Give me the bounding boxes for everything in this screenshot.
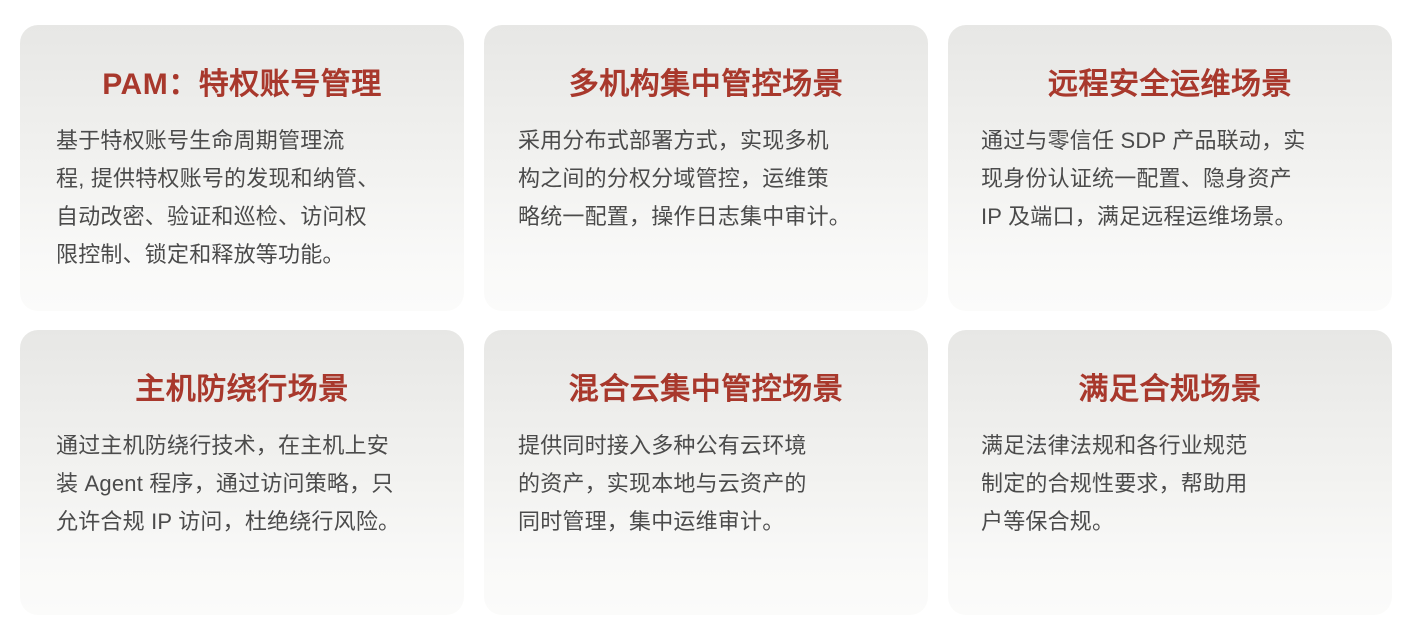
card-body: 基于特权账号生命周期管理流程, 提供特权账号的发现和纳管、自动改密、验证和巡检、… — [44, 122, 440, 274]
card-body-line: 装 Agent 程序，通过访问策略，只 — [56, 465, 440, 503]
card-body-line: 现身份认证统一配置、隐身资产 — [981, 160, 1365, 198]
card-body-line: 构之间的分权分域管控，运维策 — [518, 160, 902, 198]
card-title: 满足合规场景 — [1079, 370, 1262, 409]
scenario-card-grid: PAM：特权账号管理 基于特权账号生命周期管理流程, 提供特权账号的发现和纳管、… — [0, 0, 1412, 638]
card-body: 通过与零信任 SDP 产品联动，实现身份认证统一配置、隐身资产IP 及端口，满足… — [975, 122, 1365, 236]
card-body-line: 程, 提供特权账号的发现和纳管、 — [56, 160, 440, 198]
scenario-card[interactable]: 满足合规场景 满足法律法规和各行业规范制定的合规性要求，帮助用户等保合规。 — [948, 330, 1392, 616]
card-body-line: 户等保合规。 — [981, 503, 1365, 541]
card-body-line: IP 及端口，满足远程运维场景。 — [981, 198, 1365, 236]
card-body-line: 通过与零信任 SDP 产品联动，实 — [981, 122, 1365, 160]
card-body-line: 允许合规 IP 访问，杜绝绕行风险。 — [56, 503, 440, 541]
card-body: 满足法律法规和各行业规范制定的合规性要求，帮助用户等保合规。 — [975, 427, 1365, 541]
card-body-line: 制定的合规性要求，帮助用 — [981, 465, 1365, 503]
card-body: 提供同时接入多种公有云环境的资产，实现本地与云资产的同时管理，集中运维审计。 — [510, 427, 902, 541]
scenario-card[interactable]: 混合云集中管控场景 提供同时接入多种公有云环境的资产，实现本地与云资产的同时管理… — [484, 330, 928, 616]
card-body-line: 的资产，实现本地与云资产的 — [518, 465, 902, 503]
card-body: 采用分布式部署方式，实现多机构之间的分权分域管控，运维策略统一配置，操作日志集中… — [510, 122, 902, 236]
scenario-card[interactable]: 远程安全运维场景 通过与零信任 SDP 产品联动，实现身份认证统一配置、隐身资产… — [948, 25, 1392, 311]
card-title: PAM：特权账号管理 — [102, 65, 381, 104]
card-body-line: 基于特权账号生命周期管理流 — [56, 122, 440, 160]
card-title: 混合云集中管控场景 — [569, 370, 844, 409]
card-body-line: 自动改密、验证和巡检、访问权 — [56, 198, 440, 236]
card-body: 通过主机防绕行技术，在主机上安装 Agent 程序，通过访问策略，只允许合规 I… — [44, 427, 440, 541]
card-body-line: 满足法律法规和各行业规范 — [981, 427, 1365, 465]
card-title: 远程安全运维场景 — [1048, 65, 1292, 104]
card-body-line: 限控制、锁定和释放等功能。 — [56, 236, 440, 274]
card-body-line: 采用分布式部署方式，实现多机 — [518, 122, 902, 160]
scenario-card[interactable]: PAM：特权账号管理 基于特权账号生命周期管理流程, 提供特权账号的发现和纳管、… — [20, 25, 464, 311]
card-body-line: 通过主机防绕行技术，在主机上安 — [56, 427, 440, 465]
card-title: 多机构集中管控场景 — [569, 65, 844, 104]
card-body-line: 略统一配置，操作日志集中审计。 — [518, 198, 902, 236]
card-body-line: 同时管理，集中运维审计。 — [518, 503, 902, 541]
card-title: 主机防绕行场景 — [135, 370, 349, 409]
card-body-line: 提供同时接入多种公有云环境 — [518, 427, 902, 465]
scenario-card[interactable]: 主机防绕行场景 通过主机防绕行技术，在主机上安装 Agent 程序，通过访问策略… — [20, 330, 464, 616]
scenario-card[interactable]: 多机构集中管控场景 采用分布式部署方式，实现多机构之间的分权分域管控，运维策略统… — [484, 25, 928, 311]
